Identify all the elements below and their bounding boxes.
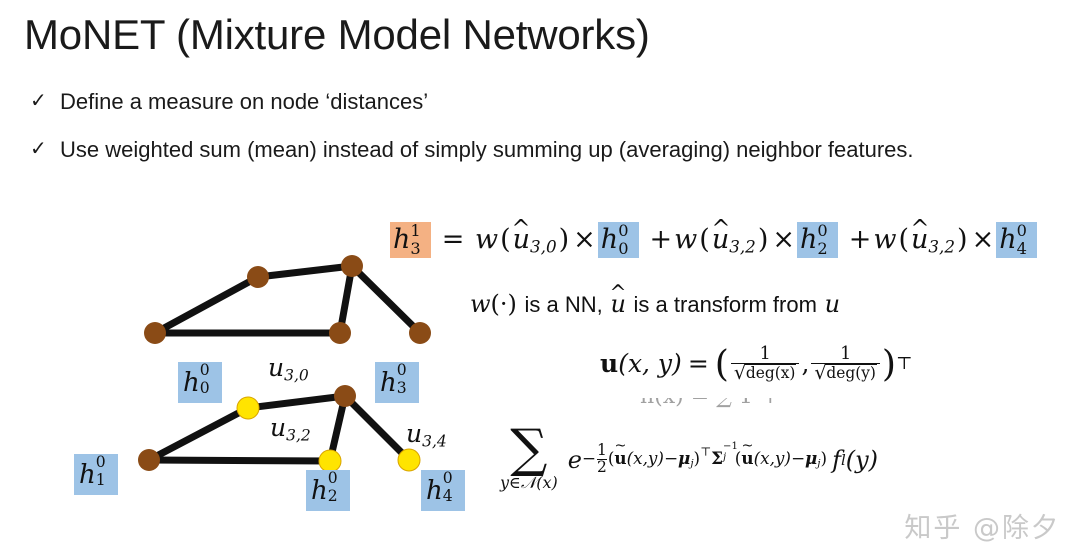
node-0-yellow (237, 397, 259, 419)
node-label-h1-h: h (79, 460, 96, 490)
highlight-h3-1: h13 (390, 222, 431, 258)
bullet-item-1: ✓ Define a measure on node ‘distances’ (30, 86, 428, 117)
edge-label-u32-u: u (270, 413, 286, 442)
eq4-minus-2: − (664, 448, 678, 468)
edge-label-u30-sub: 3,0 (284, 366, 309, 384)
page-title: MoNET (Mixture Model Networks) (24, 8, 650, 62)
node-label-h4: h04 (421, 470, 465, 511)
eq3-equals: = (682, 349, 715, 379)
eq3-num-1: 1 (757, 345, 774, 363)
eq4-sigma-mat: Σ (711, 448, 723, 468)
edge-label-u32-sub: 3,2 (286, 426, 311, 444)
equation-w-is-nn: w(·) is a NN, u is a transform from u (470, 288, 840, 321)
eq3-comma: , (801, 349, 809, 379)
edge-n1-n2 (149, 460, 330, 461)
eq1-t3-h: h (999, 224, 1016, 255)
edge-label-u30: u3,0 (268, 354, 309, 389)
eq1-t1-usub: 3,0 (530, 237, 557, 257)
node-label-h2: h02 (306, 470, 350, 511)
eq4-minus: − (582, 448, 596, 468)
eq1-t1-close: ) (557, 224, 572, 255)
eq1-lhs-sub: 3 (410, 229, 420, 269)
bullet-text-2: Use weighted sum (mean) instead of simpl… (60, 134, 914, 165)
eq1-t3-times: × (970, 224, 997, 255)
edge-n0-n3 (258, 266, 352, 277)
watermark: 知乎 @除夕 (904, 512, 1060, 546)
eq4-mu-1: μ (678, 448, 690, 468)
eq1-t3-usub: 3,2 (928, 237, 955, 257)
node-label-h0-sub: 0 (200, 373, 210, 403)
edge-n0-n3 (248, 396, 345, 408)
summation-symbol: ∑ y∈𝒩(x) (500, 426, 558, 493)
eq4-half-den: 2 (597, 459, 607, 476)
eq4-f-args: (y) (846, 446, 878, 474)
eq1-t2-usub: 3,2 (729, 237, 756, 257)
eq1-plus-2: + (847, 224, 874, 255)
node-label-h0-h: h (183, 368, 200, 398)
eq3-u-bold: u (600, 349, 618, 379)
node-label-h3-h: h (380, 368, 397, 398)
eq3-args: (x, y) (618, 349, 682, 379)
node-1 (144, 322, 166, 344)
equation-h3-update: h13 = w(u3,0)×h00 +w(u3,2)×h02 +w(u3,2)×… (390, 220, 1037, 267)
edge-label-u34-u: u (406, 419, 422, 448)
eq2-text-mid: is a NN, (525, 292, 603, 317)
node-3 (341, 255, 363, 277)
eq4-close-2: ) (821, 448, 828, 468)
eq3-transpose: ⊤ (896, 349, 912, 379)
eq1-t1-open: ( (498, 224, 513, 255)
eq1-t1-w: w (475, 224, 498, 255)
edge-label-u34-sub: 3,4 (422, 432, 447, 450)
eq1-plus-1: + (648, 224, 675, 255)
eq3-frac-2: 1 deg(y) (811, 345, 880, 383)
eq4-sigma: ∑ (510, 426, 547, 472)
slide-canvas: MoNET (Mixture Model Networks) ✓ Define … (0, 0, 1080, 554)
eq4-mu-2: μ (805, 448, 817, 468)
eqfaint-text: h(x) = ∑ 1 ⊤ · (640, 398, 1000, 409)
eq4-half-num: 1 (597, 443, 607, 459)
node-label-h1-sub: 1 (96, 465, 106, 495)
node-label-h4-sub: 4 (443, 481, 453, 511)
eq1-t2-hsub: 2 (817, 229, 827, 269)
graph-top-edges (155, 266, 420, 333)
eq4-uargs-2: (x,y) (754, 448, 791, 468)
eq2-uhat: u (610, 288, 625, 320)
eq4-e: e (568, 446, 582, 474)
highlight-h0-0: h00 (598, 222, 639, 258)
eq1-lhs-h: h (393, 224, 410, 255)
highlight-h0-2: h02 (797, 222, 838, 258)
eq1-t2-w: w (674, 224, 697, 255)
bullet-text-1: Define a measure on node ‘distances’ (60, 86, 428, 117)
node-label-h4-h: h (426, 476, 443, 506)
eq1-t2-times: × (770, 224, 797, 255)
eq1-t3-uhat: u (911, 220, 928, 260)
eq3-den-1-text: deg(x) (745, 364, 797, 381)
eq4-utilde-2: u (741, 448, 753, 468)
highlight-h0-4: h04 (996, 222, 1037, 258)
edge-n3-n4 (352, 266, 420, 333)
eq2-u-end: u (825, 290, 840, 318)
eq3-num-2: 1 (837, 345, 854, 363)
eq1-t2-close: ) (756, 224, 771, 255)
eq3-open-paren: ( (715, 349, 729, 379)
graph-mixed-nodes: h01 h00 h03 h02 h04 u3,0 u3,2 u3,4 (110, 370, 470, 505)
eq1-equals: = (440, 224, 467, 255)
node-2 (329, 322, 351, 344)
eq4-transpose-1: ⊤ (700, 445, 711, 459)
checkmark-icon: ✓ (30, 86, 60, 117)
eq4-utilde-1: u (614, 448, 626, 468)
eq2-text-end: is a transform from (634, 292, 817, 317)
eq1-t3-w: w (873, 224, 896, 255)
node-3-brown (334, 385, 356, 407)
eq3-close-paren: ) (882, 349, 896, 379)
eq3-den-1: deg(x) (731, 363, 800, 382)
node-label-h2-h: h (311, 476, 328, 506)
equation-faint-clipped: h(x) = ∑ 1 ⊤ · (640, 398, 1000, 411)
node-label-h3-sub: 3 (397, 373, 407, 403)
eq1-t1-h: h (601, 224, 618, 255)
eq3-den-2: deg(y) (811, 363, 880, 382)
eq1-t3-close: ) (955, 224, 970, 255)
eq4-exponent: −12(u(x,y)−μj)⊤Σ−1j(u(x,y)−μj) (582, 443, 827, 476)
edge-n3-n4 (345, 396, 409, 460)
node-4 (409, 322, 431, 344)
eq4-f: f (832, 446, 841, 474)
eq3-den-2-text: deg(y) (825, 364, 877, 381)
eq1-t2-open: ( (697, 224, 712, 255)
eq4-sum-limit: y∈𝒩(x) (500, 473, 558, 493)
edge-label-u32: u3,2 (270, 414, 311, 449)
eq1-t1-times: × (571, 224, 598, 255)
eq4-minus-3: − (791, 448, 805, 468)
node-1-brown (138, 449, 160, 471)
eq2-dot: (·) (491, 290, 517, 318)
eq4-sigma-sub: j (723, 452, 726, 463)
edge-label-u34: u3,4 (406, 420, 447, 455)
eq1-t1-hsub: 0 (618, 229, 628, 269)
edge-n1-n0 (149, 408, 248, 460)
eq4-sigma-sup: −1 (723, 441, 738, 452)
eq4-uargs-1: (x,y) (627, 448, 664, 468)
eq2-w: w (470, 290, 491, 318)
node-0 (247, 266, 269, 288)
eq1-t3-open: ( (896, 224, 911, 255)
eq1-t2-uhat: u (712, 220, 729, 260)
bullet-item-2: ✓ Use weighted sum (mean) instead of sim… (30, 134, 914, 165)
equation-u-definition: u(x, y) = ( 1 deg(x) , 1 deg(y) )⊤ (600, 345, 913, 383)
equation-gaussian-mixture-sum: ∑ y∈𝒩(x) e−12(u(x,y)−μj)⊤Σ−1j(u(x,y)−μj)… (500, 426, 878, 493)
edge-n1-n0 (155, 277, 258, 333)
node-label-h2-sub: 2 (328, 481, 338, 511)
node-label-h0: h00 (178, 362, 222, 403)
checkmark-icon: ✓ (30, 134, 60, 165)
eq1-t1-uhat: u (513, 220, 530, 260)
node-label-h3: h03 (375, 362, 419, 403)
eq4-half: 12 (597, 443, 607, 476)
eq1-t3-hsub: 4 (1017, 229, 1027, 269)
node-label-h1: h01 (74, 454, 118, 495)
eq3-frac-1: 1 deg(x) (731, 345, 800, 383)
eq1-t2-h: h (800, 224, 817, 255)
edge-label-u30-u: u (268, 353, 284, 382)
